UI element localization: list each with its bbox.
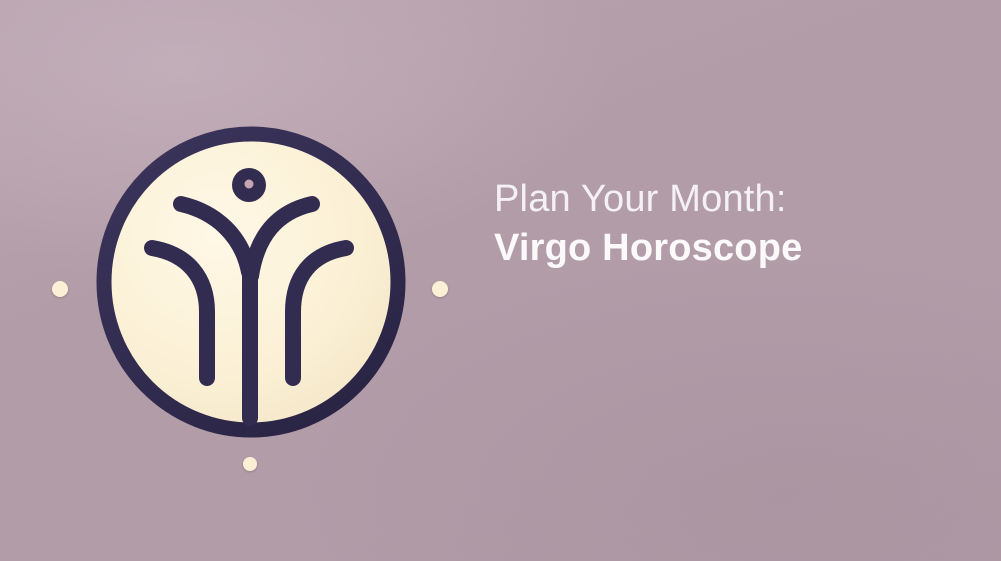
- horoscope-banner: Plan Your Month: Virgo Horoscope: [0, 0, 1001, 561]
- decorative-dot-bottom: [243, 457, 257, 471]
- virgo-head-accent: [245, 180, 254, 189]
- headline-line-1: Plan Your Month:: [494, 175, 924, 223]
- headline-line-2: Virgo Horoscope: [494, 223, 924, 273]
- headline: Plan Your Month: Virgo Horoscope: [494, 175, 924, 273]
- decorative-dot-right: [432, 281, 448, 297]
- virgo-zodiac-emblem: [96, 126, 406, 438]
- decorative-dot-left: [52, 281, 68, 297]
